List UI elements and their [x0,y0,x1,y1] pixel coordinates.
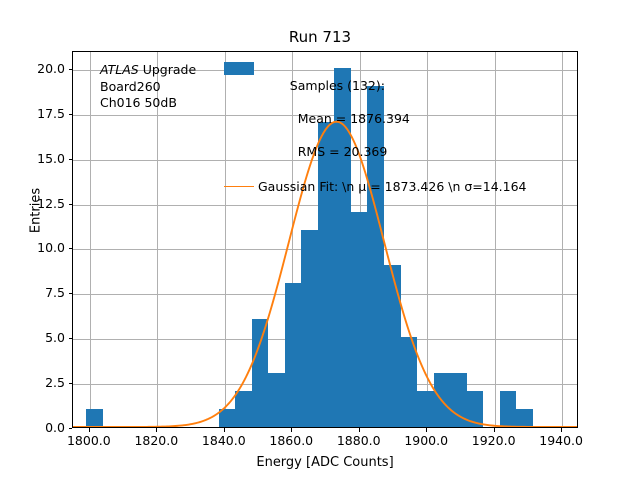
chart-title: Run 713 [0,28,640,46]
x-axis-tick [494,428,495,432]
legend-patch-icon [222,61,258,77]
y-axis-tick-label: 5.0 [17,330,65,345]
y-axis-tick-label: 0.0 [17,420,65,435]
y-axis-tick-label: 20.0 [17,61,65,76]
y-axis-tick-label: 17.5 [17,106,65,121]
legend-samples-line1: Samples (132): [290,78,385,93]
y-axis-tick [69,338,73,339]
y-axis-tick [69,69,73,70]
legend-samples-line2: Mean = 1876.394 [290,111,410,126]
y-axis-tick-label: 12.5 [17,196,65,211]
y-axis-tick [69,204,73,205]
legend-label-fit: Gaussian Fit: \n μ = 1873.426 \n σ=14.16… [258,179,527,196]
x-axis-tick [224,428,225,432]
legend-samples-line3: RMS = 20.369 [290,144,388,159]
y-axis-tick [69,114,73,115]
chart-legend: Samples (132): Mean = 1876.394 RMS = 20.… [222,61,527,197]
annotation-line-2: Board260 [100,79,196,96]
x-axis-tick [89,428,90,432]
figure-canvas: Run 713 Energy [ADC Counts] Entries ATLA… [0,0,640,480]
upgrade-text: Upgrade [139,62,196,77]
y-axis-tick [69,159,73,160]
y-axis-tick [69,293,73,294]
atlas-italic-text: ATLAS [100,62,139,77]
x-axis-tick [426,428,427,432]
y-axis-tick-label: 7.5 [17,285,65,300]
legend-entry-fit: Gaussian Fit: \n μ = 1873.426 \n σ=14.16… [222,179,527,196]
annotation-line-3: Ch016 50dB [100,95,196,112]
x-axis-tick [561,428,562,432]
y-axis-tick [69,383,73,384]
y-axis-tick [69,428,73,429]
x-axis-tick-label: 1940.0 [521,433,601,448]
y-axis-tick-label: 15.0 [17,151,65,166]
x-axis-tick [359,428,360,432]
annotation-line-1: ATLAS Upgrade [100,62,196,79]
y-axis-tick-label: 2.5 [17,375,65,390]
x-axis-tick [291,428,292,432]
legend-entry-samples: Samples (132): Mean = 1876.394 RMS = 20.… [222,61,527,177]
legend-label-samples: Samples (132): Mean = 1876.394 RMS = 20.… [258,61,410,177]
y-axis-tick [69,248,73,249]
atlas-annotation: ATLAS Upgrade Board260 Ch016 50dB [100,62,196,112]
x-axis-label: Energy [ADC Counts] [72,455,578,470]
legend-line-icon [222,179,258,195]
x-axis-tick [156,428,157,432]
y-axis-tick-label: 10.0 [17,240,65,255]
